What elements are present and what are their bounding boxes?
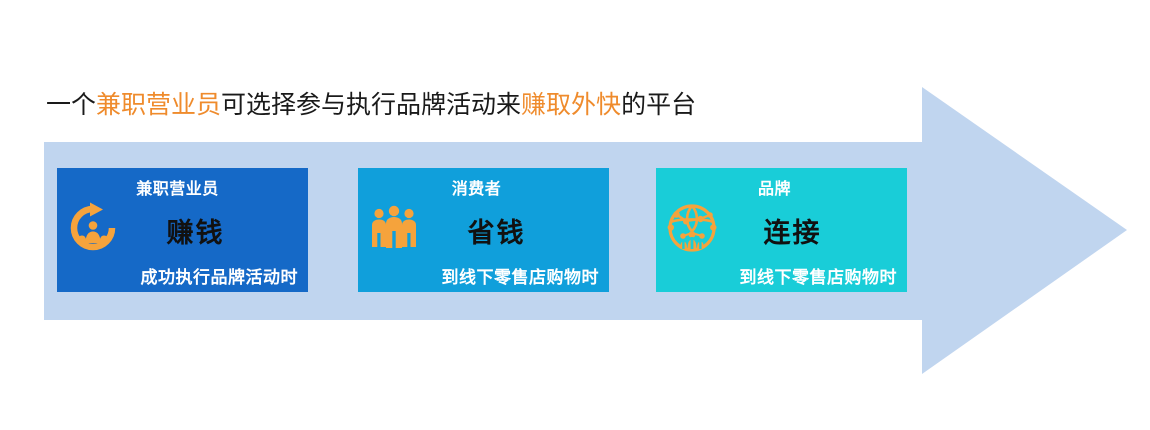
card-header-label: 消费者 (358, 175, 609, 199)
card-main-label: 赚钱 (57, 211, 308, 250)
card-part-time-clerk[interactable]: 兼职营业员 赚钱 成功执行品牌活动时 (57, 168, 308, 292)
card-footer-label: 到线下零售店购物时 (740, 263, 898, 288)
page-title: 一个兼职营业员可选择参与执行品牌活动来赚取外快的平台 (46, 88, 696, 122)
card-footer-label: 到线下零售店购物时 (442, 263, 600, 288)
card-main-label: 省钱 (358, 211, 609, 250)
title-highlight-two: 赚取外快 (521, 90, 621, 119)
card-consumer[interactable]: 消费者 省钱 到线下零售店购物时 (358, 168, 609, 292)
slide-canvas: 一个兼职营业员可选择参与执行品牌活动来赚取外快的平台 兼职营业员 赚钱 成功执行… (0, 0, 1150, 430)
card-header-label: 兼职营业员 (57, 175, 308, 199)
card-header-label: 品牌 (656, 175, 907, 199)
title-highlight-one: 兼职营业员 (96, 90, 221, 119)
title-suffix: 的平台 (621, 90, 696, 119)
title-middle: 可选择参与执行品牌活动来 (221, 90, 521, 119)
card-brand[interactable]: 品牌 (656, 168, 907, 292)
card-footer-label: 成功执行品牌活动时 (141, 263, 299, 288)
title-prefix: 一个 (46, 90, 96, 119)
arrow-head (922, 87, 1127, 374)
card-main-label: 连接 (656, 211, 907, 250)
value-cards-row: 兼职营业员 赚钱 成功执行品牌活动时 消费者 (57, 168, 907, 292)
